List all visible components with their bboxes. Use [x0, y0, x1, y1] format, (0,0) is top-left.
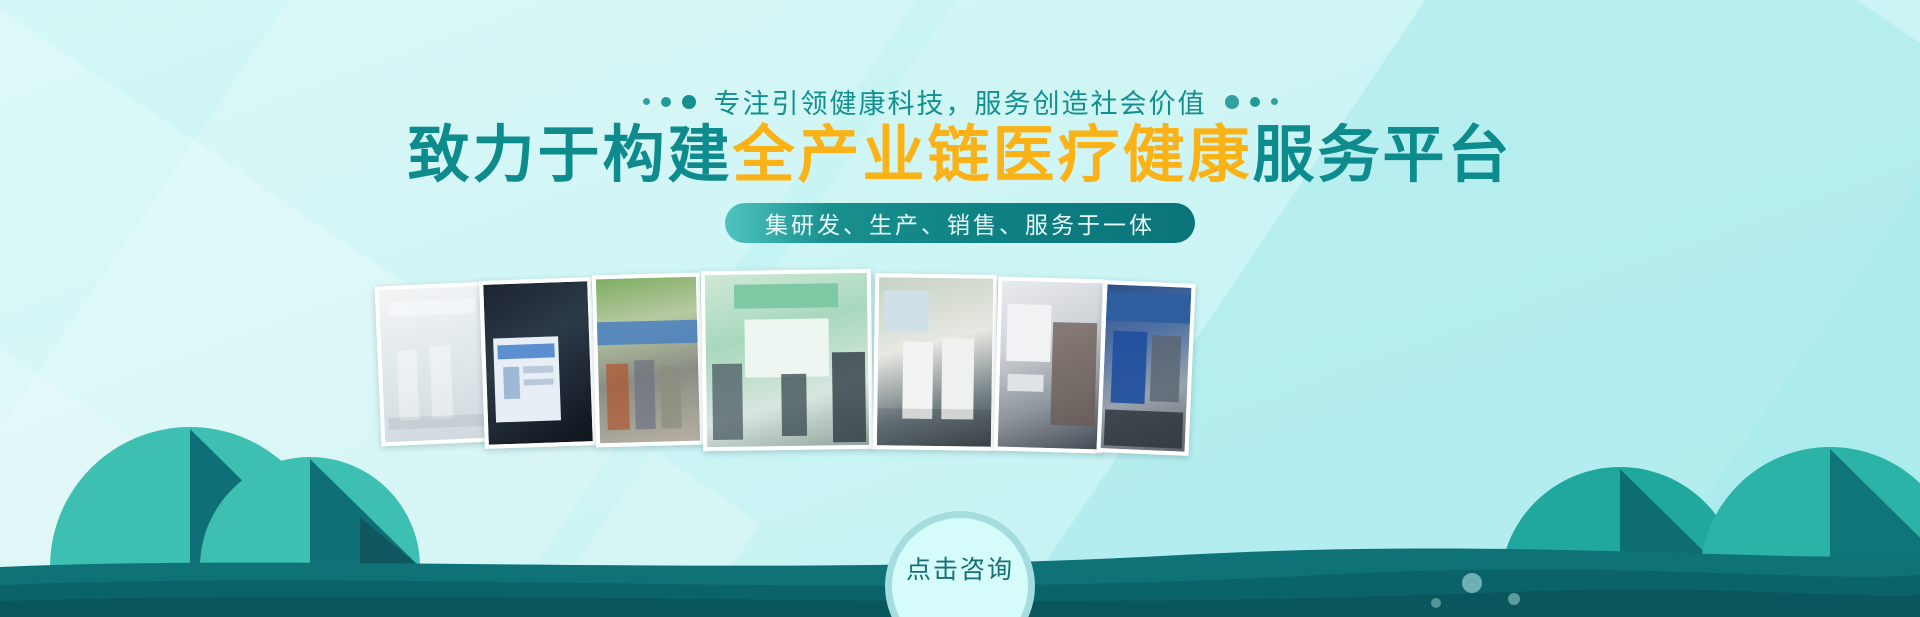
bubble-icon [1462, 573, 1482, 593]
bubble-icon [1431, 598, 1441, 608]
hero-banner: 专注引领健康科技，服务创造社会价值 致力于构建全产业链医疗健康服务平台 集研发、… [0, 0, 1920, 617]
dot-large-icon [1225, 95, 1239, 109]
photo-clinic-staff[interactable] [873, 273, 997, 451]
photo-outdoor-health-service[interactable] [592, 273, 704, 448]
photo-production-line[interactable] [375, 282, 494, 447]
subtitle-pill-wrap: 集研发、生产、销售、服务于一体 [0, 203, 1920, 243]
tagline-text: 专注引领健康科技，服务创造社会价值 [714, 82, 1207, 121]
decorative-dots-left [643, 95, 696, 109]
consult-cta-button[interactable]: 点击咨询 [885, 511, 1035, 617]
photo-factory-assembly[interactable] [1096, 280, 1195, 456]
dot-medium-icon [1250, 97, 1260, 107]
decorative-dots-right [1225, 95, 1278, 109]
photo-strip [0, 252, 1920, 482]
headline-part-1: 致力于构建 [407, 118, 732, 191]
bubble-icon [1508, 593, 1520, 605]
subtitle-pill: 集研发、生产、销售、服务于一体 [725, 203, 1195, 243]
headline-part-2-highlight: 全产业链医疗健康 [732, 118, 1252, 191]
dot-medium-icon [661, 97, 671, 107]
dot-small-icon [643, 98, 650, 105]
photo-lab-technician[interactable] [994, 277, 1107, 454]
dot-small-icon [1271, 98, 1278, 105]
dot-large-icon [682, 95, 696, 109]
headline: 致力于构建全产业链医疗健康服务平台 [0, 122, 1920, 187]
consult-cta-label: 点击咨询 [906, 550, 1014, 586]
headline-part-3: 服务平台 [1253, 118, 1513, 191]
photo-health-kiosk-screen[interactable] [479, 277, 597, 449]
tagline-row: 专注引领健康科技，服务创造社会价值 [0, 82, 1920, 121]
photo-health-booth[interactable] [701, 269, 873, 451]
